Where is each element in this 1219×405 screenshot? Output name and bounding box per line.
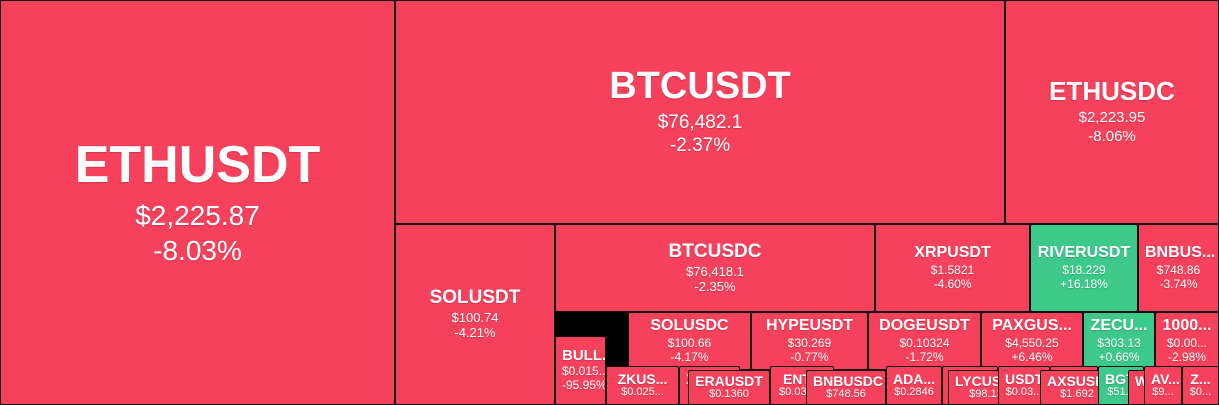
tile-change-percent: +0.66% (1090, 350, 1148, 364)
tile-change-percent: +6.46% (988, 350, 1076, 364)
tile-content: XRPUSDT$1.5821-4.60% (876, 245, 1029, 291)
tile-change-percent: -0.77% (758, 350, 861, 364)
tile-symbol: Z... (1189, 372, 1212, 387)
treemap-tile-bnbusdc[interactable]: BNBUSDC$748.56 (806, 370, 886, 405)
treemap-tile-ada[interactable]: ADA...$0.2846 (886, 366, 942, 405)
tile-price: $2,225.87 (7, 199, 388, 232)
tile-content: AV...$9... (1145, 372, 1181, 400)
tile-content: RIVERUSDT$18.229+16.18% (1031, 245, 1137, 291)
tile-symbol: DOGEUSDT (875, 318, 974, 335)
tile-price: $0.025... (613, 386, 672, 399)
tile-price: $76,482.1 (402, 112, 998, 134)
tile-price: $18.229 (1037, 263, 1131, 277)
treemap-tile-btcusdc[interactable]: BTCUSDC$76,418.1-2.35% (555, 224, 875, 312)
tile-content: ADA...$0.2846 (887, 372, 941, 400)
tile-price: $9... (1151, 386, 1175, 399)
tile-change-percent: -2.35% (562, 279, 868, 294)
tile-price: $0.00... (1162, 336, 1212, 350)
tile-symbol: RIVERUSDT (1037, 245, 1131, 262)
tile-price: $76,418.1 (562, 264, 868, 279)
treemap-tile-btcusdt[interactable]: BTCUSDT$76,482.1-2.37% (395, 0, 1005, 224)
tile-symbol: BTCUSDT (402, 67, 998, 107)
treemap-tile-bull[interactable]: BULL...$0.015...-95.95% (555, 336, 606, 405)
tile-content: HYPEUSDT$30.269-0.77% (752, 318, 867, 364)
treemap-tile-ethusdt[interactable]: ETHUSDT$2,225.87-8.03% (0, 0, 395, 405)
tile-symbol: BULL... (562, 348, 599, 364)
tile-symbol: BNBUSDC (813, 374, 879, 389)
treemap-heatmap: ETHUSDT$2,225.87-8.03%BTCUSDT$76,482.1-2… (0, 0, 1219, 405)
tile-change-percent: -2.37% (402, 135, 998, 157)
tile-change-percent: -4.21% (402, 325, 548, 340)
tile-content: 1000...$0.00...-2.98% (1156, 318, 1218, 364)
tile-symbol: ADA... (893, 372, 935, 387)
treemap-tile-zkus[interactable]: ZKUS...$0.025... (606, 366, 679, 405)
tile-price: $2,223.95 (1012, 109, 1212, 127)
tile-price: $30.269 (758, 336, 861, 350)
tile-content: SOLUSDT$100.74-4.21% (396, 288, 554, 341)
treemap-tile-1000[interactable]: 1000...$0.00...-2.98% (1155, 312, 1219, 370)
tile-symbol: ZECU... (1090, 318, 1148, 335)
tile-symbol: PAXGUS... (988, 318, 1076, 335)
tile-content: ETHUSDT$2,225.87-8.03% (1, 138, 394, 267)
tile-price: $0... (1189, 386, 1212, 399)
tile-content: BNBUS...$748.86-3.74% (1139, 245, 1218, 291)
tile-symbol: SOLUSDC (635, 318, 744, 335)
tile-content: ERAUSDT$0.1360 (689, 374, 769, 402)
tile-change-percent: -4.17% (635, 350, 744, 364)
tile-content: BULL...$0.015...-95.95% (556, 348, 605, 392)
treemap-tile-bnbus[interactable]: BNBUS...$748.86-3.74% (1138, 224, 1219, 312)
tile-change-percent: +16.18% (1037, 277, 1131, 291)
tile-symbol: BNBUS... (1145, 245, 1212, 262)
treemap-tile-hypeusdt[interactable]: HYPEUSDT$30.269-0.77% (751, 312, 868, 370)
tile-change-percent: -2.98% (1162, 350, 1212, 364)
tile-content: ZECU...$303.13+0.66% (1084, 318, 1154, 364)
tile-symbol: ETHUSDC (1012, 78, 1212, 105)
tile-content: ZKUS...$0.025... (607, 372, 678, 400)
tile-change-percent: -8.03% (7, 234, 388, 267)
tile-symbol: BTCUSDC (562, 242, 868, 262)
treemap-tile-dogeusdt[interactable]: DOGEUSDT$0.10324-1.72% (868, 312, 981, 370)
tile-price: $0.2846 (893, 386, 935, 399)
tile-symbol: XRPUSDT (882, 245, 1023, 262)
treemap-tile-av[interactable]: AV...$9... (1144, 366, 1182, 405)
tile-price: $100.66 (635, 336, 744, 350)
treemap-tile-solusdc[interactable]: SOLUSDC$100.66-4.17% (628, 312, 751, 370)
treemap-tile-ethusdc[interactable]: ETHUSDC$2,223.95-8.06% (1005, 0, 1219, 224)
tile-symbol: ERAUSDT (695, 374, 763, 389)
tile-change-percent: -4.60% (882, 277, 1023, 291)
tile-change-percent: -3.74% (1145, 277, 1212, 291)
tile-symbol: ETHUSDT (7, 138, 388, 193)
treemap-tile-xrpusdt[interactable]: XRPUSDT$1.5821-4.60% (875, 224, 1030, 312)
tile-change-percent: -8.06% (1012, 128, 1212, 146)
tile-price: $4,550.25 (988, 336, 1076, 350)
tile-price: $1.5821 (882, 263, 1023, 277)
tile-price: $0.015... (562, 364, 599, 378)
treemap-tile-riverusdt[interactable]: RIVERUSDT$18.229+16.18% (1030, 224, 1138, 312)
tile-symbol: SOLUSDT (402, 288, 548, 308)
tile-price: $748.56 (813, 388, 879, 401)
tile-price: $0.10324 (875, 336, 974, 350)
tile-content: SOLUSDC$100.66-4.17% (629, 318, 750, 364)
tile-content: ETHUSDC$2,223.95-8.06% (1006, 78, 1218, 146)
tile-symbol: HYPEUSDT (758, 318, 861, 335)
tile-content: BNBUSDC$748.56 (807, 374, 885, 402)
tile-price: $0.03... (1005, 386, 1043, 399)
tile-symbol: USDT... (1005, 372, 1043, 387)
tile-symbol: 1000... (1162, 318, 1212, 335)
tile-symbol: ZKUS... (613, 372, 672, 387)
tile-price: $303.13 (1090, 336, 1148, 350)
tile-content: BTCUSDT$76,482.1-2.37% (396, 67, 1004, 158)
tile-symbol: AV... (1151, 372, 1175, 387)
tile-content: DOGEUSDT$0.10324-1.72% (869, 318, 980, 364)
tile-content: BTCUSDC$76,418.1-2.35% (556, 242, 874, 295)
tile-change-percent: -1.72% (875, 350, 974, 364)
treemap-tile-paxgus[interactable]: PAXGUS...$4,550.25+6.46% (981, 312, 1083, 370)
treemap-tile-solusdt[interactable]: SOLUSDT$100.74-4.21% (395, 224, 555, 405)
treemap-tile-erausdt[interactable]: ERAUSDT$0.1360 (688, 370, 770, 405)
tile-price: $0.1360 (695, 388, 763, 401)
tile-price: $748.86 (1145, 263, 1212, 277)
tile-content: Z...$0... (1183, 372, 1218, 400)
treemap-tile-zecu[interactable]: ZECU...$303.13+0.66% (1083, 312, 1155, 370)
tile-change-percent: -95.95% (562, 378, 599, 392)
tile-content: PAXGUS...$4,550.25+6.46% (982, 318, 1082, 364)
treemap-tile-z[interactable]: Z...$0... (1182, 366, 1219, 405)
tile-price: $100.74 (402, 310, 548, 325)
